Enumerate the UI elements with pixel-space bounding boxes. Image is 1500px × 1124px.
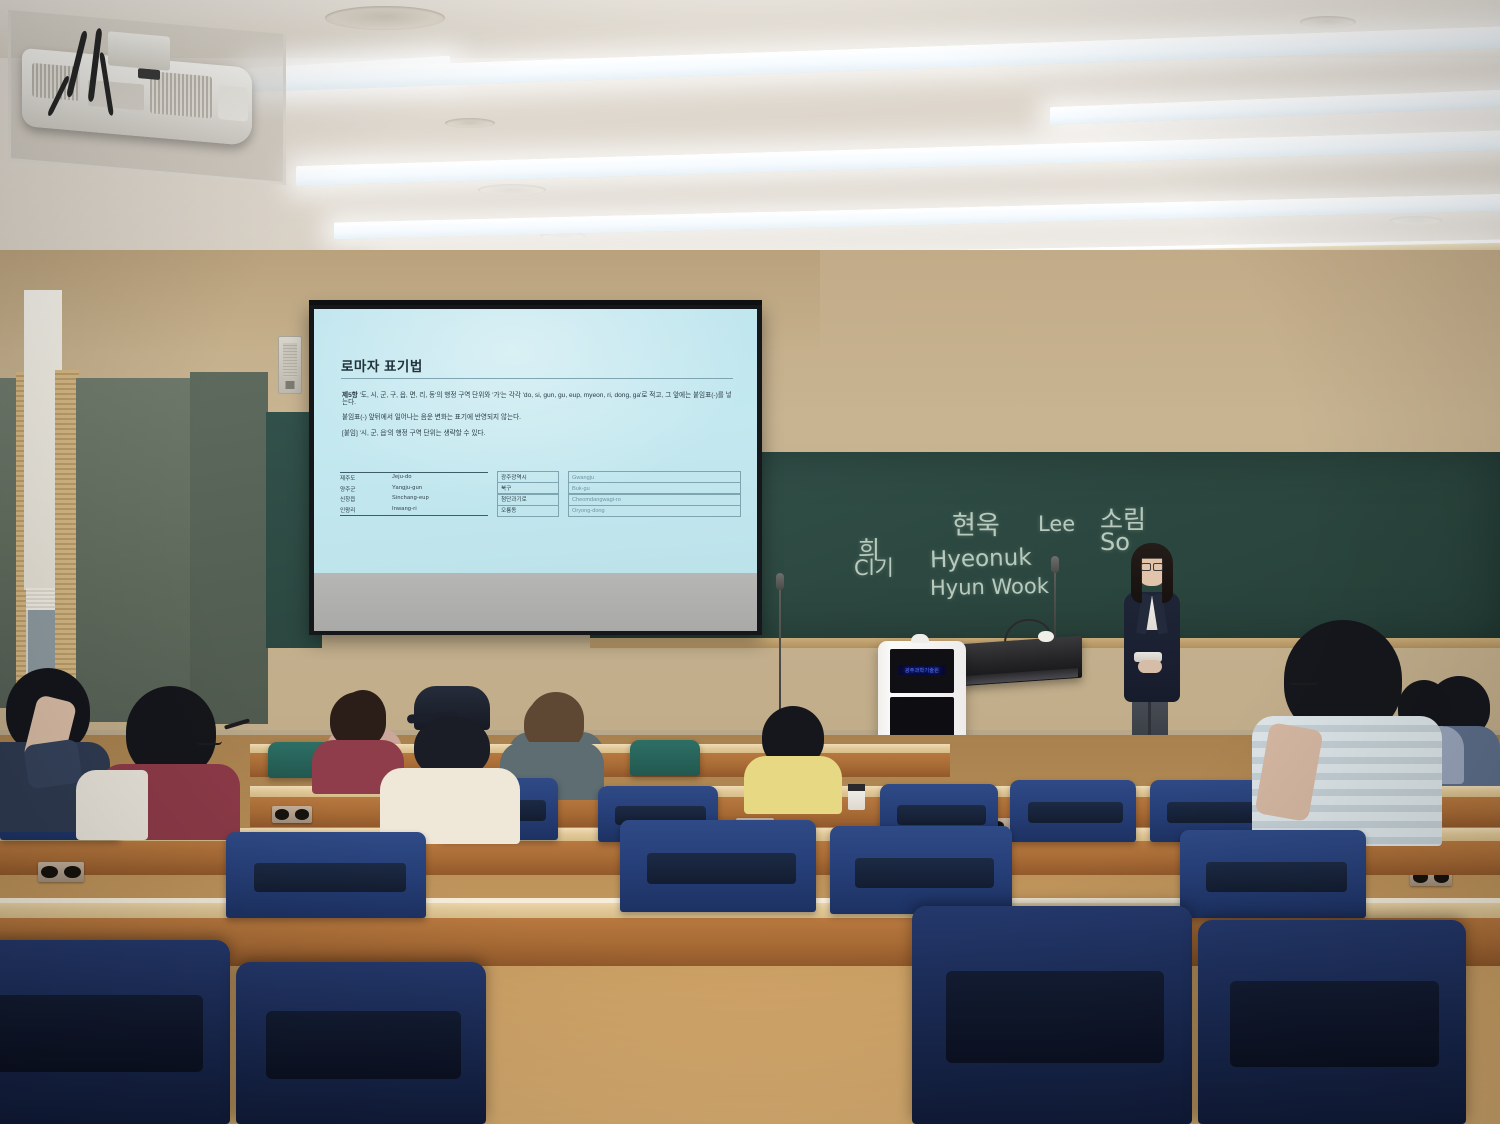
cell-roman: Yangju-gun xyxy=(392,485,488,493)
slide-paragraph-1: 붙임표(-) 앞뒤에서 일어나는 음운 변화는 표기에 반영되지 않는다. xyxy=(342,415,737,422)
seat[interactable] xyxy=(630,740,700,776)
slide-table-right-korean: 광주광역시 북구 첨단과기로 오룡동 xyxy=(497,472,559,517)
cell-korean: 북구 xyxy=(497,482,559,494)
power-outlet[interactable] xyxy=(38,862,84,882)
ceiling-vent-2 xyxy=(445,118,495,128)
slide-paragraph-2-text: [붙임] '시, 군, 읍'의 행정 구역 단위는 생략할 수 있다. xyxy=(342,430,485,437)
seat[interactable] xyxy=(236,962,486,1124)
slide-surface: 로마자 표기법 제5항 '도, 시, 군, 구, 읍, 면, 리, 동'의 행정… xyxy=(314,309,757,631)
lectern-led-display: 광주과학기술원 xyxy=(898,665,946,675)
cell-roman: Cheomdangwagi-ro xyxy=(568,494,741,506)
seat[interactable] xyxy=(620,820,816,912)
slide-paragraph-1-text: 붙임표(-) 앞뒤에서 일어나는 음운 변화는 표기에 반영되지 않는다. xyxy=(342,414,521,421)
power-outlet[interactable] xyxy=(272,806,312,823)
acoustic-panel-left-3 xyxy=(190,372,268,724)
slide-lower-band xyxy=(314,573,757,631)
cell-roman: Jeju-do xyxy=(392,474,488,482)
table-row: 인왕리 Inwang-ri xyxy=(340,505,488,517)
cell-korean: 인왕리 xyxy=(340,506,392,514)
cell-roman: Sinchang-eup xyxy=(392,495,488,503)
cell-roman: Buk-gu xyxy=(568,482,741,494)
slide-body: 제5항 '도, 시, 군, 구, 읍, 면, 리, 동'의 행정 구역 단위와 … xyxy=(342,393,737,446)
lectern-panel[interactable]: 광주과학기술원 xyxy=(890,649,954,693)
slide-table-left: 제주도 Jeju-do 양주군 Yangju-gun 신창읍 Sinchang-… xyxy=(340,472,488,517)
presenter-hands xyxy=(1138,660,1162,673)
ceiling-light-row-5 xyxy=(1050,89,1500,125)
ceiling-vent-6 xyxy=(1390,216,1442,225)
ceiling-vent-5 xyxy=(1300,16,1356,28)
seat[interactable] xyxy=(1010,780,1136,842)
seat[interactable] xyxy=(830,826,1012,914)
cell-korean: 첨단과기로 xyxy=(497,494,559,506)
seat[interactable] xyxy=(1180,830,1366,918)
cell-roman: Inwang-ri xyxy=(392,506,488,514)
lectern-led-text: 광주과학기술원 xyxy=(905,667,939,674)
seat[interactable] xyxy=(0,940,230,1124)
projection-screen: 로마자 표기법 제5항 '도, 시, 군, 구, 읍, 면, 리, 동'의 행정… xyxy=(309,305,762,635)
lectern-knob xyxy=(911,634,929,643)
ceiling xyxy=(0,0,1500,268)
cell-roman: Oryong-dong xyxy=(568,505,741,517)
slide-title: 로마자 표기법 xyxy=(341,355,423,375)
slide-paragraph-2: [붙임] '시, 군, 읍'의 행정 구역 단위는 생략할 수 있다. xyxy=(342,431,737,438)
table-row: 신창읍 Sinchang-eup xyxy=(340,494,488,505)
projector-mount xyxy=(108,31,170,70)
glasses-icon xyxy=(196,738,222,745)
microphone-left xyxy=(776,573,784,590)
ceiling-vent-3 xyxy=(478,184,546,196)
ceiling-light-row-2 xyxy=(296,130,1500,186)
paper-cup xyxy=(848,784,865,810)
slide-title-rule xyxy=(341,378,733,379)
wall-speaker xyxy=(278,336,302,394)
table-row: 제주도 Jeju-do xyxy=(340,472,488,484)
presenter-glasses-icon xyxy=(1141,563,1163,569)
computer-mouse xyxy=(1038,631,1054,642)
glasses-icon xyxy=(1288,678,1318,685)
seat[interactable] xyxy=(226,832,426,918)
cell-korean: 광주광역시 xyxy=(497,471,559,483)
table-row: 양주군 Yangju-gun xyxy=(340,484,488,495)
ceiling-vent-1 xyxy=(325,6,445,30)
microphone-stand-right xyxy=(1054,568,1056,643)
ceiling-light-row-3 xyxy=(334,194,1500,240)
cell-korean: 오룡동 xyxy=(497,505,559,517)
slide-table-right-roman: Gwangju Buk-gu Cheomdangwagi-ro Oryong-d… xyxy=(568,472,741,517)
cell-korean: 제주도 xyxy=(340,474,392,482)
seat[interactable] xyxy=(912,906,1192,1124)
seat[interactable] xyxy=(1198,920,1466,1124)
slide-paragraph-0-text: '도, 시, 군, 구, 읍, 면, 리, 동'의 행정 구역 단위와 '가'는… xyxy=(342,392,732,406)
slide-paragraph-0: 제5항 '도, 시, 군, 구, 읍, 면, 리, 동'의 행정 구역 단위와 … xyxy=(342,393,737,407)
lecture-hall-photo: 희 현욱 Lee 소림 Cl기 Hyeonuk Hyun Wook So 로마자… xyxy=(0,0,1500,1124)
cell-korean: 신창읍 xyxy=(340,495,392,503)
microphone-right xyxy=(1051,556,1059,573)
cell-korean: 양주군 xyxy=(340,485,392,493)
cell-roman: Gwangju xyxy=(568,471,741,483)
slide-tables: 제주도 Jeju-do 양주군 Yangju-gun 신창읍 Sinchang-… xyxy=(340,472,741,517)
